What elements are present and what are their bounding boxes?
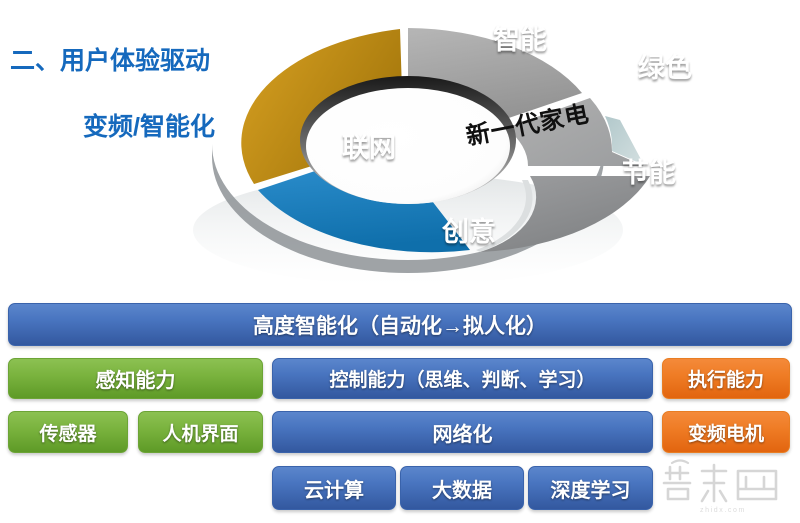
- donut-segment-label-chuangyi: 创意: [442, 210, 496, 249]
- bar-cloud-computing[interactable]: 云计算: [272, 466, 396, 510]
- page-title-line2: 变频/智能化: [4, 111, 266, 144]
- bar-label: 变频电机: [688, 419, 764, 446]
- bar-control-capability[interactable]: 控制能力（思维、判断、学习）: [272, 358, 653, 399]
- page-title: 二、用户体验驱动 变频/智能化: [4, 12, 266, 177]
- bar-label: 高度智能化（自动化→拟人化）: [253, 310, 547, 340]
- bar-label: 传感器: [39, 419, 96, 446]
- bar-label: 网络化: [433, 418, 493, 447]
- donut-segment-label-jieneng: 节能: [622, 151, 676, 190]
- slide-canvas: 二、用户体验驱动 变频/智能化: [0, 0, 800, 523]
- bar-label: 大数据: [432, 474, 492, 503]
- donut-segment-label-lvse: 绿色: [638, 46, 692, 85]
- bar-networking[interactable]: 网络化: [272, 411, 653, 453]
- bar-human-machine-interface[interactable]: 人机界面: [138, 411, 263, 453]
- bar-sensor[interactable]: 传感器: [8, 411, 128, 453]
- donut-segment-label-zhineng: 智能: [493, 18, 547, 57]
- bar-label: 深度学习: [551, 474, 631, 503]
- watermark-logo: zhidx.com: [658, 457, 788, 515]
- bar-label: 感知能力: [96, 364, 176, 393]
- bar-deep-learning[interactable]: 深度学习: [528, 466, 653, 510]
- bar-label: 执行能力: [688, 365, 764, 392]
- bar-big-data[interactable]: 大数据: [400, 466, 524, 510]
- bar-label: 人机界面: [162, 419, 238, 446]
- bar-label: 云计算: [304, 474, 364, 503]
- bar-perception-capability[interactable]: 感知能力: [8, 358, 263, 399]
- donut-segment-label-lianwang: 联网: [342, 126, 396, 165]
- page-title-line1: 二、用户体验驱动: [4, 45, 266, 78]
- bar-variable-frequency-motor[interactable]: 变频电机: [662, 411, 790, 453]
- bar-label: 控制能力（思维、判断、学习）: [329, 365, 595, 392]
- bar-high-intelligence[interactable]: 高度智能化（自动化→拟人化）: [8, 303, 792, 346]
- bar-execution-capability[interactable]: 执行能力: [662, 358, 790, 399]
- watermark-domain-text: zhidx.com: [700, 507, 746, 514]
